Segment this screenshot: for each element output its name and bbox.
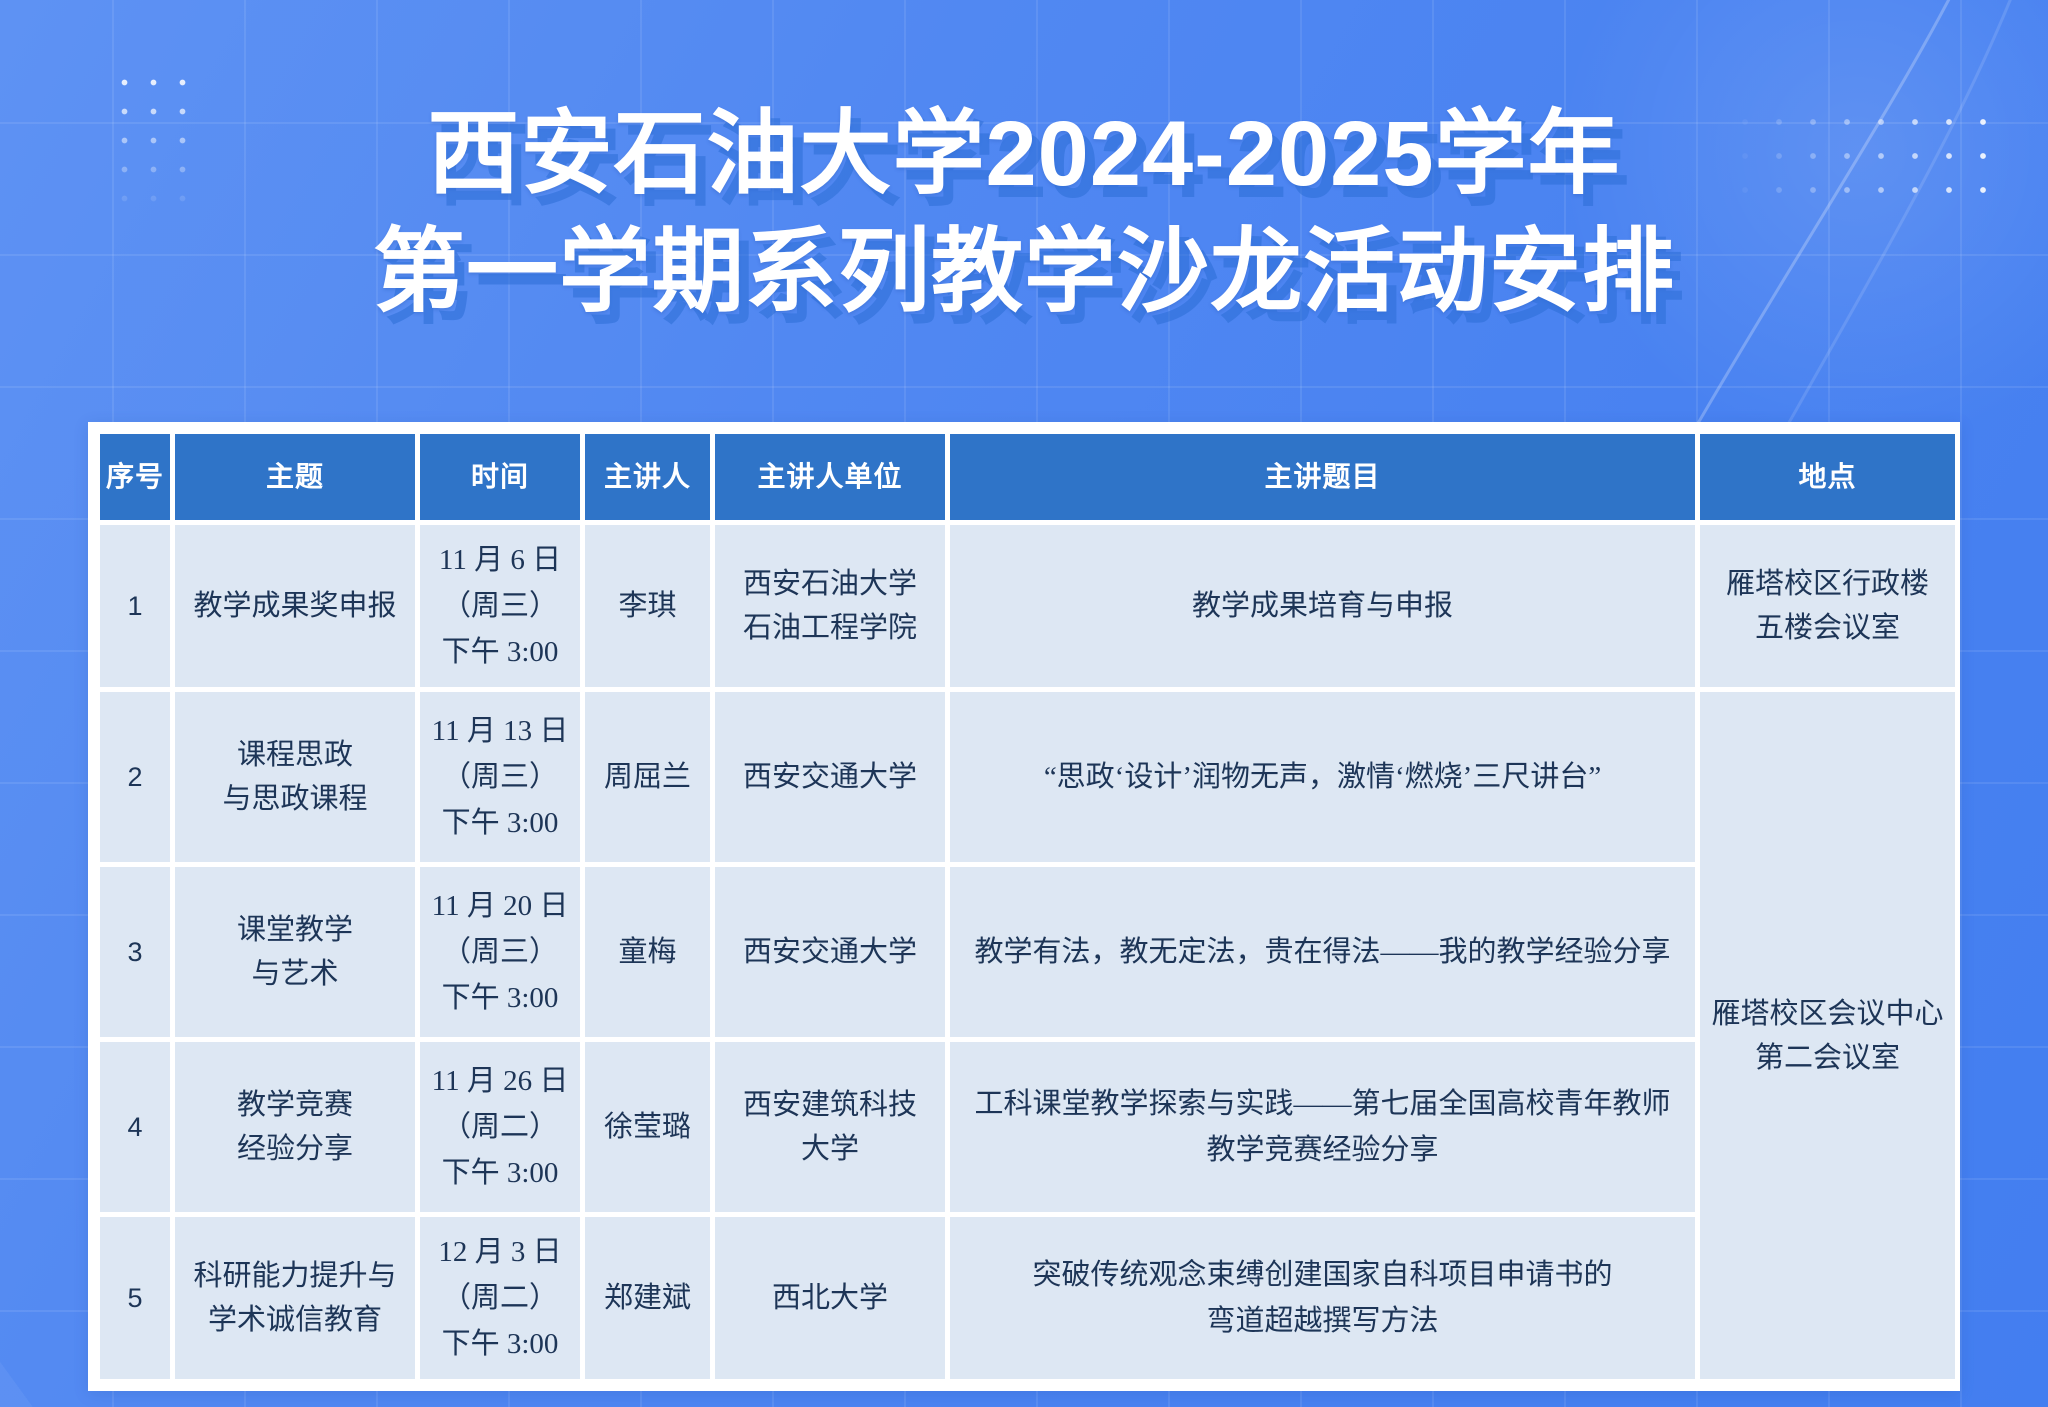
column-header-location: 地点 [1700,434,1955,520]
column-header-affiliation: 主讲人单位 [715,434,945,520]
cell-time: 11 月 13 日（周三）下午 3:00 [420,692,580,862]
column-header-no: 序号 [100,434,170,520]
table-row: 2 课程思政与思政课程 11 月 13 日（周三）下午 3:00 周屈兰 西安交… [100,692,1955,862]
title-line-1: 西安石油大学2024-2025学年 [0,95,2048,213]
table-row: 1 教学成果奖申报 11 月 6 日（周三）下午 3:00 李琪 西安石油大学石… [100,525,1955,687]
table-header: 序号 主题 时间 主讲人 主讲人单位 主讲题目 地点 [100,434,1955,520]
page-title: 西安石油大学2024-2025学年 第一学期系列教学沙龙活动安排 [0,95,2048,331]
cell-speaker: 周屈兰 [585,692,710,862]
cell-no: 2 [100,692,170,862]
table-row: 4 教学竞赛经验分享 11 月 26 日（周二）下午 3:00 徐莹璐 西安建筑… [100,1042,1955,1212]
cell-no: 4 [100,1042,170,1212]
cell-speaker: 徐莹璐 [585,1042,710,1212]
table-header-row: 序号 主题 时间 主讲人 主讲人单位 主讲题目 地点 [100,434,1955,520]
cell-affiliation: 西安交通大学 [715,867,945,1037]
cell-lecture: 突破传统观念束缚创建国家自科项目申请书的弯道超越撰写方法 [950,1217,1695,1379]
cell-lecture: 教学有法，教无定法，贵在得法——我的教学经验分享 [950,867,1695,1037]
cell-time: 11 月 6 日（周三）下午 3:00 [420,525,580,687]
column-header-topic: 主题 [175,434,415,520]
cell-location: 雁塔校区行政楼五楼会议室 [1700,525,1955,687]
table-row: 5 科研能力提升与学术诚信教育 12 月 3 日（周二）下午 3:00 郑建斌 … [100,1217,1955,1379]
corner-glow-decoration [1548,0,2048,460]
cell-lecture: 工科课堂教学探索与实践——第七届全国高校青年教师教学竞赛经验分享 [950,1042,1695,1212]
cell-lecture: 教学成果培育与申报 [950,525,1695,687]
cell-topic: 课程思政与思政课程 [175,692,415,862]
cell-no: 5 [100,1217,170,1379]
table-body: 1 教学成果奖申报 11 月 6 日（周三）下午 3:00 李琪 西安石油大学石… [100,525,1955,1379]
cell-time: 11 月 20 日（周三）下午 3:00 [420,867,580,1037]
schedule-table-container: 序号 主题 时间 主讲人 主讲人单位 主讲题目 地点 1 教学成果奖申报 11 … [88,422,1960,1391]
cell-affiliation: 西北大学 [715,1217,945,1379]
dot-grid-decoration-top-left [110,68,202,218]
cell-affiliation: 西安建筑科技大学 [715,1042,945,1212]
cell-affiliation: 西安交通大学 [715,692,945,862]
dot-grid-decoration-top-right [1728,105,1988,210]
cell-speaker: 李琪 [585,525,710,687]
column-header-speaker: 主讲人 [585,434,710,520]
schedule-table: 序号 主题 时间 主讲人 主讲人单位 主讲题目 地点 1 教学成果奖申报 11 … [95,429,1960,1384]
cell-lecture: “思政‘设计’润物无声，激情‘燃烧’三尺讲台” [950,692,1695,862]
cell-no: 1 [100,525,170,687]
cell-speaker: 童梅 [585,867,710,1037]
cell-topic: 教学竞赛经验分享 [175,1042,415,1212]
cell-topic: 科研能力提升与学术诚信教育 [175,1217,415,1379]
cell-affiliation: 西安石油大学石油工程学院 [715,525,945,687]
title-line-2: 第一学期系列教学沙龙活动安排 [0,213,2048,331]
column-header-lecture: 主讲题目 [950,434,1695,520]
cell-speaker: 郑建斌 [585,1217,710,1379]
cell-time: 11 月 26 日（周二）下午 3:00 [420,1042,580,1212]
cell-time: 12 月 3 日（周二）下午 3:00 [420,1217,580,1379]
cell-topic: 教学成果奖申报 [175,525,415,687]
column-header-time: 时间 [420,434,580,520]
table-row: 3 课堂教学与艺术 11 月 20 日（周三）下午 3:00 童梅 西安交通大学… [100,867,1955,1037]
cell-location-merged: 雁塔校区会议中心第二会议室 [1700,692,1955,1379]
poster-root: 西安石油大学2024-2025学年 第一学期系列教学沙龙活动安排 序号 主题 时… [0,0,2048,1407]
cell-no: 3 [100,867,170,1037]
cell-topic: 课堂教学与艺术 [175,867,415,1037]
